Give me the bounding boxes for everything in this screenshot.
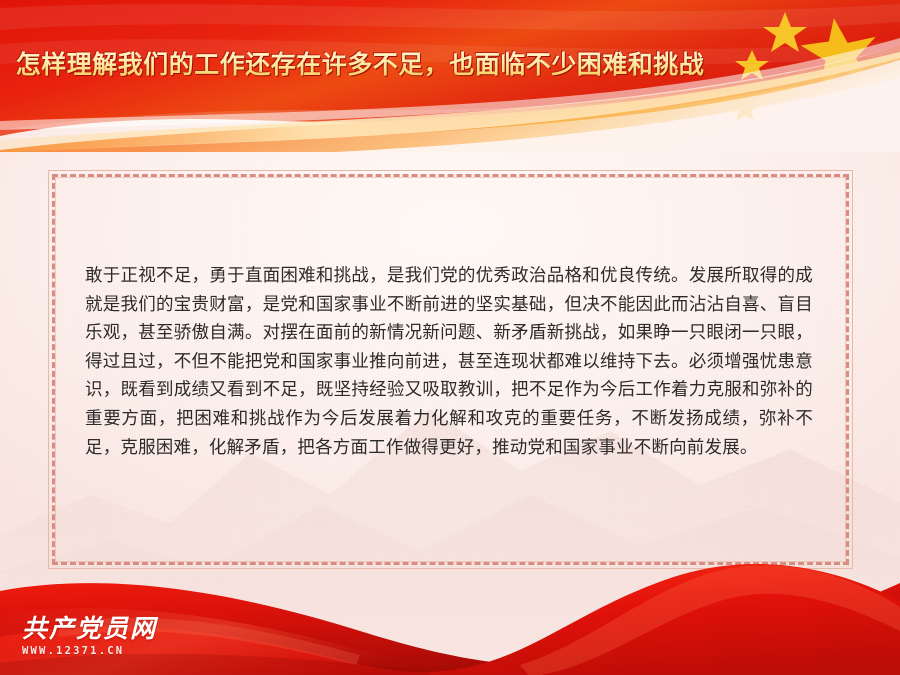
body-paragraph: 敢于正视不足，勇于直面困难和挑战，是我们党的优秀政治品格和优良传统。发展所取得的… xyxy=(85,262,813,462)
page-title: 怎样理解我们的工作还存在许多不足，也面临不少困难和挑战 xyxy=(0,50,720,80)
site-watermark: 共产党员网 WWW.12371.CN xyxy=(22,615,157,657)
watermark-site-name: 共产党员网 xyxy=(22,615,157,642)
header-banner: 怎样理解我们的工作还存在许多不足，也面临不少困难和挑战 xyxy=(0,0,900,152)
footer-ribbon: 共产党员网 WWW.12371.CN xyxy=(0,545,900,675)
poster-canvas: 怎样理解我们的工作还存在许多不足，也面临不少困难和挑战 敢于正视不足，勇于直面困… xyxy=(0,0,900,675)
watermark-site-url: WWW.12371.CN xyxy=(22,645,157,657)
